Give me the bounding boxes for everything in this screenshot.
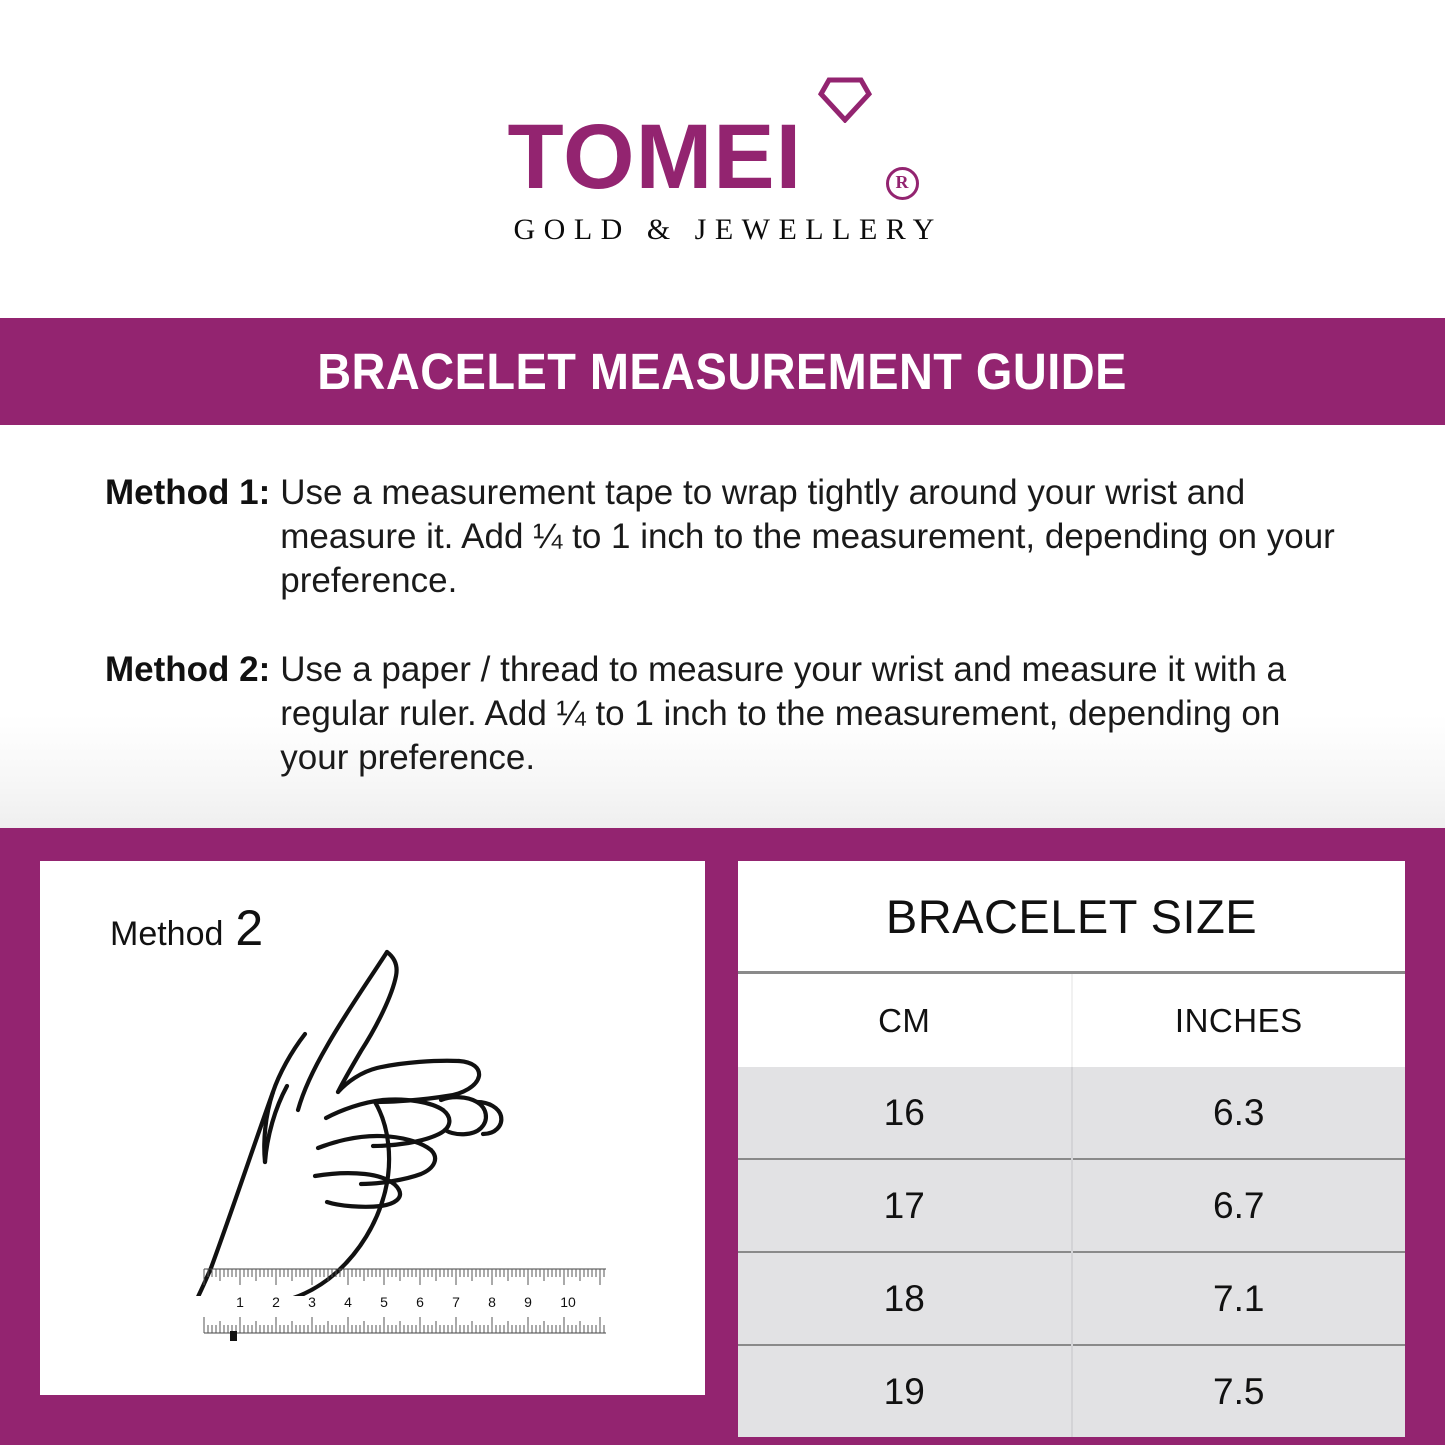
page-title: BRACELET MEASUREMENT GUIDE: [318, 342, 1128, 401]
svg-text:4: 4: [344, 1294, 352, 1310]
method-1-block: Method 1: Use a measurement tape to wrap…: [0, 425, 1445, 603]
table-row: 19 7.5: [738, 1345, 1405, 1437]
brand-header: TOMEI R GOLD & JEWELLERY: [0, 0, 1445, 318]
ruler-marker: [230, 1331, 237, 1341]
table-row: 17 6.7: [738, 1159, 1405, 1252]
illustration-card: Method 2: [40, 861, 705, 1395]
bracelet-size-table: BRACELET SIZE CM INCHES 16 6.3 17 6.7 18…: [738, 861, 1405, 1437]
svg-text:9: 9: [524, 1294, 532, 1310]
table-title-row: BRACELET SIZE: [738, 861, 1405, 973]
svg-text:5: 5: [380, 1294, 388, 1310]
methods-section: Method 1: Use a measurement tape to wrap…: [0, 425, 1445, 828]
registered-trademark-icon: R: [886, 167, 919, 200]
svg-text:2: 2: [272, 1294, 280, 1310]
method-1-label: Method 1:: [105, 471, 280, 603]
method-1-text: Use a measurement tape to wrap tightly a…: [280, 471, 1340, 603]
table-title: BRACELET SIZE: [738, 861, 1405, 973]
column-header-cm: CM: [738, 973, 1072, 1068]
brand-wordmark: TOMEI: [508, 111, 803, 203]
svg-text:6: 6: [416, 1294, 424, 1310]
method-2-label: Method 2:: [105, 648, 280, 780]
cell-inches: 6.7: [1072, 1159, 1406, 1252]
svg-text:10: 10: [560, 1294, 576, 1310]
logo-lockup: TOMEI R GOLD & JEWELLERY: [508, 77, 938, 252]
method-2-text: Use a paper / thread to measure your wri…: [280, 648, 1340, 780]
hand-pinching-thread-icon: [155, 896, 595, 1296]
column-header-inches: INCHES: [1072, 973, 1406, 1068]
svg-text:3: 3: [308, 1294, 316, 1310]
diamond-icon: [818, 77, 872, 123]
cell-inches: 7.5: [1072, 1345, 1406, 1437]
page-banner: BRACELET MEASUREMENT GUIDE: [0, 318, 1445, 425]
ruler-icon: 1 2 3 4 5 6 7 8 9 10: [200, 1261, 610, 1341]
svg-text:7: 7: [452, 1294, 460, 1310]
cell-cm: 16: [738, 1067, 1072, 1159]
table-row: 16 6.3: [738, 1067, 1405, 1159]
brand-tagline: GOLD & JEWELLERY: [514, 213, 943, 247]
svg-text:8: 8: [488, 1294, 496, 1310]
table-header-row: CM INCHES: [738, 973, 1405, 1068]
cell-inches: 6.3: [1072, 1067, 1406, 1159]
cell-cm: 17: [738, 1159, 1072, 1252]
svg-text:1: 1: [236, 1294, 244, 1310]
table-row: 18 7.1: [738, 1252, 1405, 1345]
cell-inches: 7.1: [1072, 1252, 1406, 1345]
size-table-card: BRACELET SIZE CM INCHES 16 6.3 17 6.7 18…: [738, 861, 1405, 1395]
cell-cm: 19: [738, 1345, 1072, 1437]
cell-cm: 18: [738, 1252, 1072, 1345]
method-2-block: Method 2: Use a paper / thread to measur…: [0, 603, 1445, 780]
